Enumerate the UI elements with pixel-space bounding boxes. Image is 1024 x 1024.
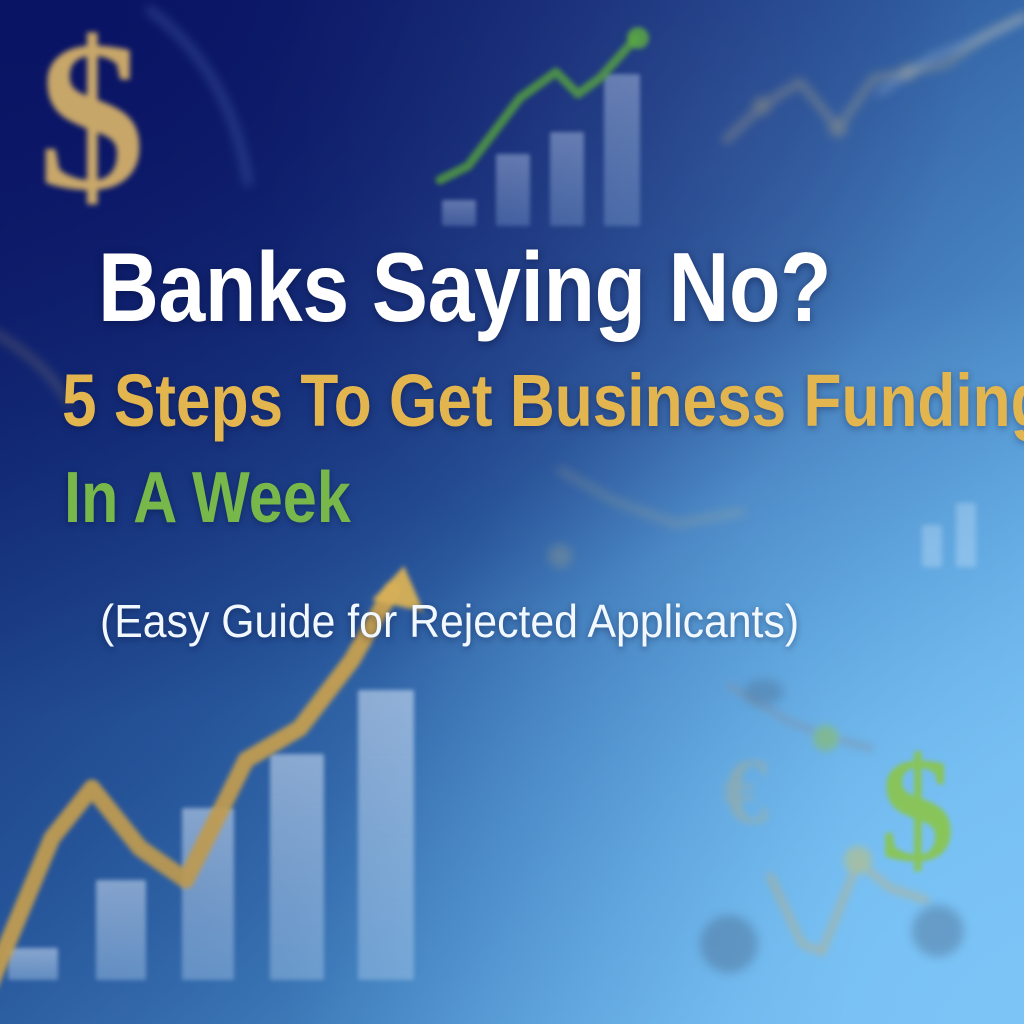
poster-subheadline-green: In A Week [64, 462, 351, 534]
poster-tagline: (Easy Guide for Rejected Applicants) [100, 598, 799, 644]
headline-text-group: Banks Saying No? 5 Steps To Get Business… [0, 0, 1024, 1024]
poster-subheadline-gold: 5 Steps To Get Business Funding [62, 364, 1024, 438]
poster-canvas: $ $ € [0, 0, 1024, 1024]
poster-headline: Banks Saying No? [98, 238, 831, 336]
